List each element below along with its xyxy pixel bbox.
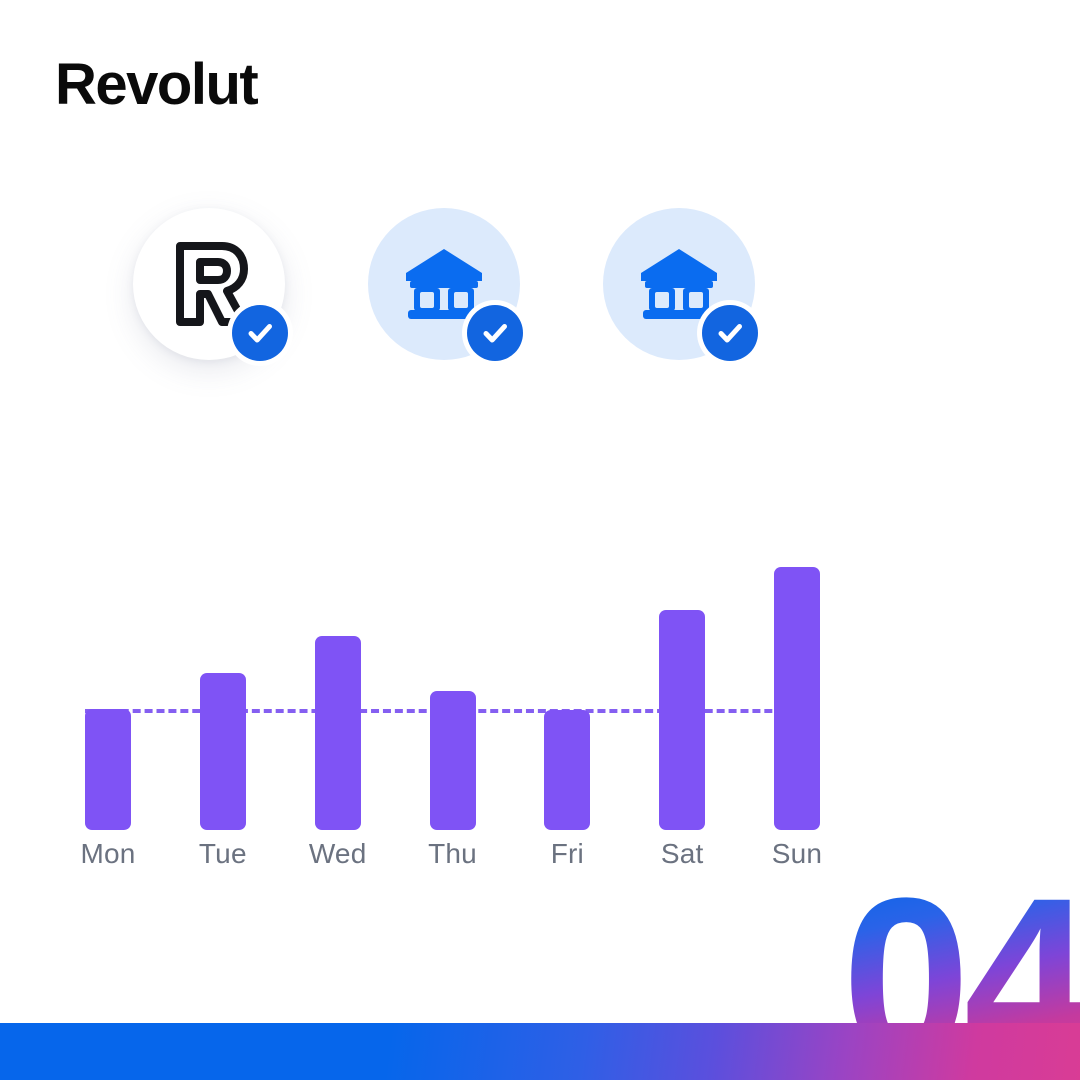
bar-fill bbox=[659, 610, 705, 830]
check-circle bbox=[232, 305, 288, 361]
bottom-gradient-band bbox=[0, 1023, 1080, 1080]
account-badge-bank-1[interactable] bbox=[368, 208, 520, 360]
check-icon bbox=[244, 317, 276, 349]
axis-label-thu: Thu bbox=[403, 838, 503, 870]
revolut-wordmark: Revolut bbox=[55, 56, 257, 114]
bar-fill bbox=[430, 691, 476, 830]
check-circle bbox=[467, 305, 523, 361]
verified-check-badge bbox=[462, 300, 528, 366]
check-icon bbox=[479, 317, 511, 349]
bar-fill bbox=[774, 567, 820, 830]
bar-fill bbox=[315, 636, 361, 830]
weekly-spending-bar-chart: MonTueWedThuFriSatSun bbox=[0, 540, 900, 880]
slide-canvas: Revolut bbox=[0, 0, 1080, 1080]
axis-label-fri: Fri bbox=[517, 838, 617, 870]
verified-accounts-row bbox=[133, 208, 833, 388]
axis-label-sat: Sat bbox=[632, 838, 732, 870]
check-circle bbox=[702, 305, 758, 361]
axis-label-wed: Wed bbox=[288, 838, 388, 870]
verified-check-badge bbox=[227, 300, 293, 366]
verified-check-badge bbox=[697, 300, 763, 366]
axis-label-mon: Mon bbox=[58, 838, 158, 870]
bar-fill bbox=[544, 710, 590, 830]
axis-label-tue: Tue bbox=[173, 838, 273, 870]
check-icon bbox=[714, 317, 746, 349]
bar-fill bbox=[85, 709, 131, 830]
chart-category-axis: MonTueWedThuFriSatSun bbox=[85, 838, 820, 878]
axis-label-sun: Sun bbox=[747, 838, 847, 870]
bar-fill bbox=[200, 673, 246, 830]
chart-plot-area bbox=[85, 540, 820, 830]
account-badge-revolut[interactable] bbox=[133, 208, 285, 360]
account-badge-bank-2[interactable] bbox=[603, 208, 755, 360]
